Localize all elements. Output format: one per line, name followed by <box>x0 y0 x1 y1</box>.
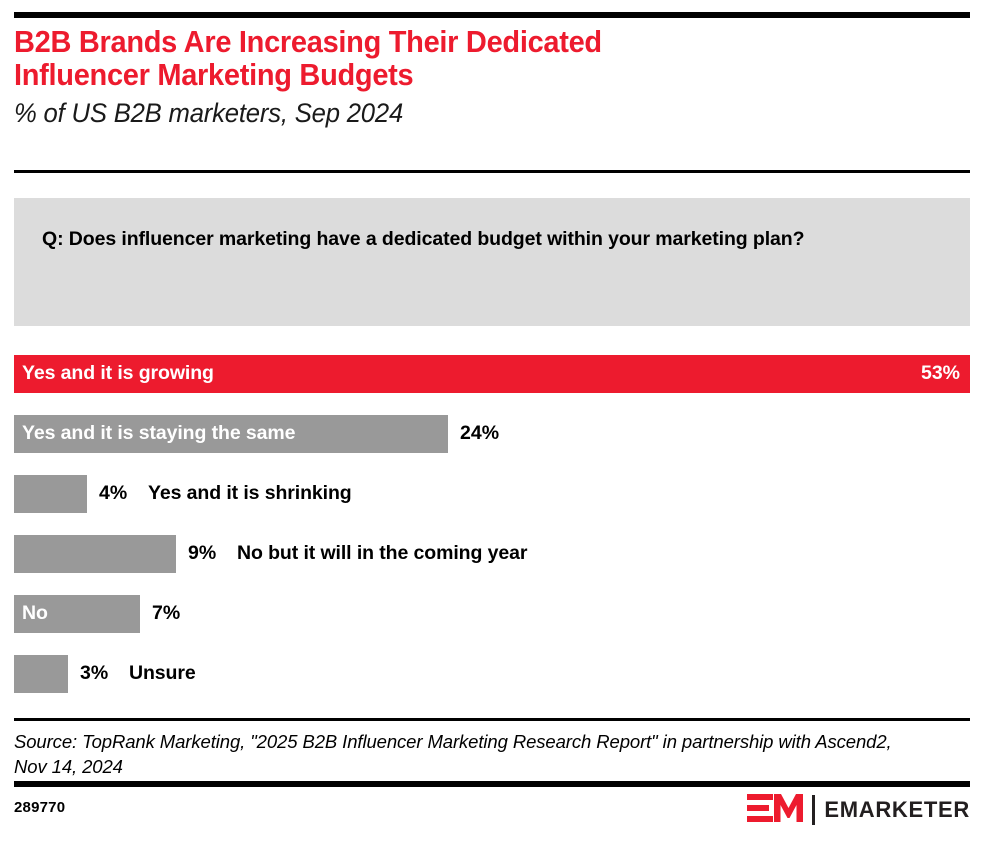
brand-wordmark: EMARKETER <box>824 799 970 821</box>
bar-row: Yes and it is staying the same24% <box>14 415 970 453</box>
emarketer-logo: EMARKETER <box>747 793 970 827</box>
bar-row: No7% <box>14 595 970 633</box>
bar-value-label: 9% <box>188 542 216 565</box>
title-separator-rule <box>14 170 970 173</box>
source-separator-rule <box>14 718 970 721</box>
top-rule <box>14 12 970 18</box>
em-monogram-icon <box>747 793 803 828</box>
chart-id: 289770 <box>14 799 65 816</box>
chart-canvas: B2B Brands Are Increasing Their Dedicate… <box>0 0 982 841</box>
bar-row: 9%No but it will in the coming year <box>14 535 970 573</box>
bar-fill <box>14 535 176 573</box>
chart-content-area: B2B Brands Are Increasing Their Dedicate… <box>14 0 970 841</box>
bar-category-label: Unsure <box>129 662 196 685</box>
bar-fill: No <box>14 595 140 633</box>
bar-row: Yes and it is growing53% <box>14 355 970 393</box>
chart-header: B2B Brands Are Increasing Their Dedicate… <box>14 26 970 128</box>
bar-fill: Yes and it is staying the same <box>14 415 448 453</box>
bar-category-label: Yes and it is staying the same <box>22 422 295 445</box>
bar-fill <box>14 475 87 513</box>
question-box: Q: Does influencer marketing have a dedi… <box>14 198 970 326</box>
bar-row: 4%Yes and it is shrinking <box>14 475 970 513</box>
bar-chart: Yes and it is growing53%Yes and it is st… <box>14 355 970 695</box>
bar-category-label: Yes and it is shrinking <box>148 482 352 505</box>
bar-value-label: 53% <box>921 362 960 385</box>
question-text: Q: Does influencer marketing have a dedi… <box>42 226 902 253</box>
bar-fill <box>14 655 68 693</box>
footer-rule <box>14 781 970 787</box>
bar-value-label: 3% <box>80 662 108 685</box>
bar-value-label: 4% <box>99 482 127 505</box>
bar-category-label: Yes and it is growing <box>22 362 214 385</box>
bar-category-label: No <box>22 602 48 625</box>
logo-divider <box>812 795 815 825</box>
bar-category-label: No but it will in the coming year <box>237 542 527 565</box>
bar-value-label: 7% <box>152 602 180 625</box>
source-note: Source: TopRank Marketing, "2025 B2B Inf… <box>14 729 914 779</box>
bar-fill: Yes and it is growing53% <box>14 355 970 393</box>
bar-value-label: 24% <box>460 422 499 445</box>
page-title: B2B Brands Are Increasing Their Dedicate… <box>14 26 922 92</box>
page-subtitle: % of US B2B marketers, Sep 2024 <box>14 98 922 128</box>
bar-row: 3%Unsure <box>14 655 970 693</box>
